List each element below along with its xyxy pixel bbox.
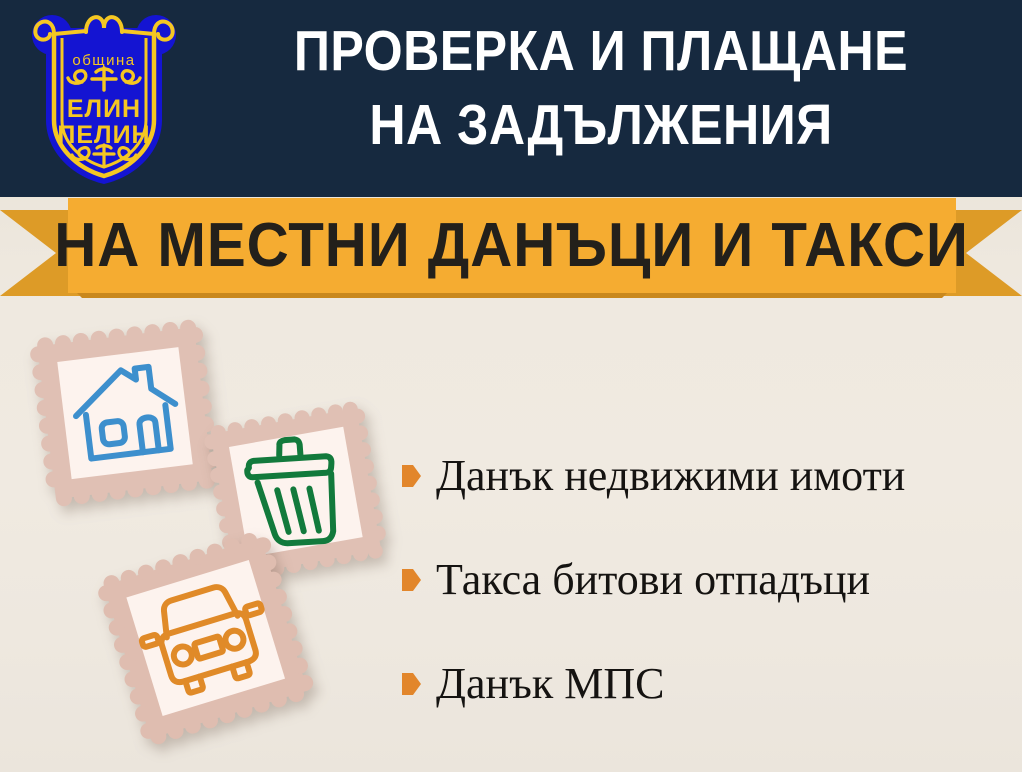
list-item[interactable]: Данък МПС bbox=[402, 632, 1014, 736]
ribbon-banner: НА МЕСТНИ ДАНЪЦИ И ТАКСИ bbox=[0, 196, 1022, 306]
poster-canvas: ПРОВЕРКА И ПЛАЩАНЕ НА ЗАДЪЛЖЕНИЯ о bbox=[0, 0, 1022, 772]
tax-type-list: Данък недвижими имоти Такса битови отпад… bbox=[402, 424, 1014, 736]
page-title-line-1: ПРОВЕРКА И ПЛАЩАНЕ bbox=[236, 14, 966, 88]
list-item-label: Такса битови отпадъци bbox=[436, 556, 870, 604]
arrow-bullet-icon bbox=[402, 569, 421, 591]
list-item[interactable]: Данък недвижими имоти bbox=[402, 424, 1014, 528]
list-item-label: Данък МПС bbox=[436, 660, 664, 708]
list-item-label: Данък недвижими имоти bbox=[436, 452, 905, 500]
arrow-bullet-icon bbox=[402, 465, 421, 487]
stamp-card-car bbox=[96, 528, 316, 750]
ribbon-label: НА МЕСТНИ ДАНЪЦИ И ТАКСИ bbox=[55, 215, 970, 277]
municipality-logo: община ЕЛИН ПЕЛИН bbox=[24, 8, 184, 190]
ribbon-main-panel: НА МЕСТНИ ДАНЪЦИ И ТАКСИ bbox=[68, 198, 956, 293]
logo-word-line-1: ЕЛИН bbox=[67, 95, 141, 123]
list-item[interactable]: Такса битови отпадъци bbox=[402, 528, 1014, 632]
page-title: ПРОВЕРКА И ПЛАЩАНЕ НА ЗАДЪЛЖЕНИЯ bbox=[236, 14, 966, 162]
arrow-bullet-icon bbox=[402, 673, 421, 695]
page-title-line-2: НА ЗАДЪЛЖЕНИЯ bbox=[236, 88, 966, 162]
